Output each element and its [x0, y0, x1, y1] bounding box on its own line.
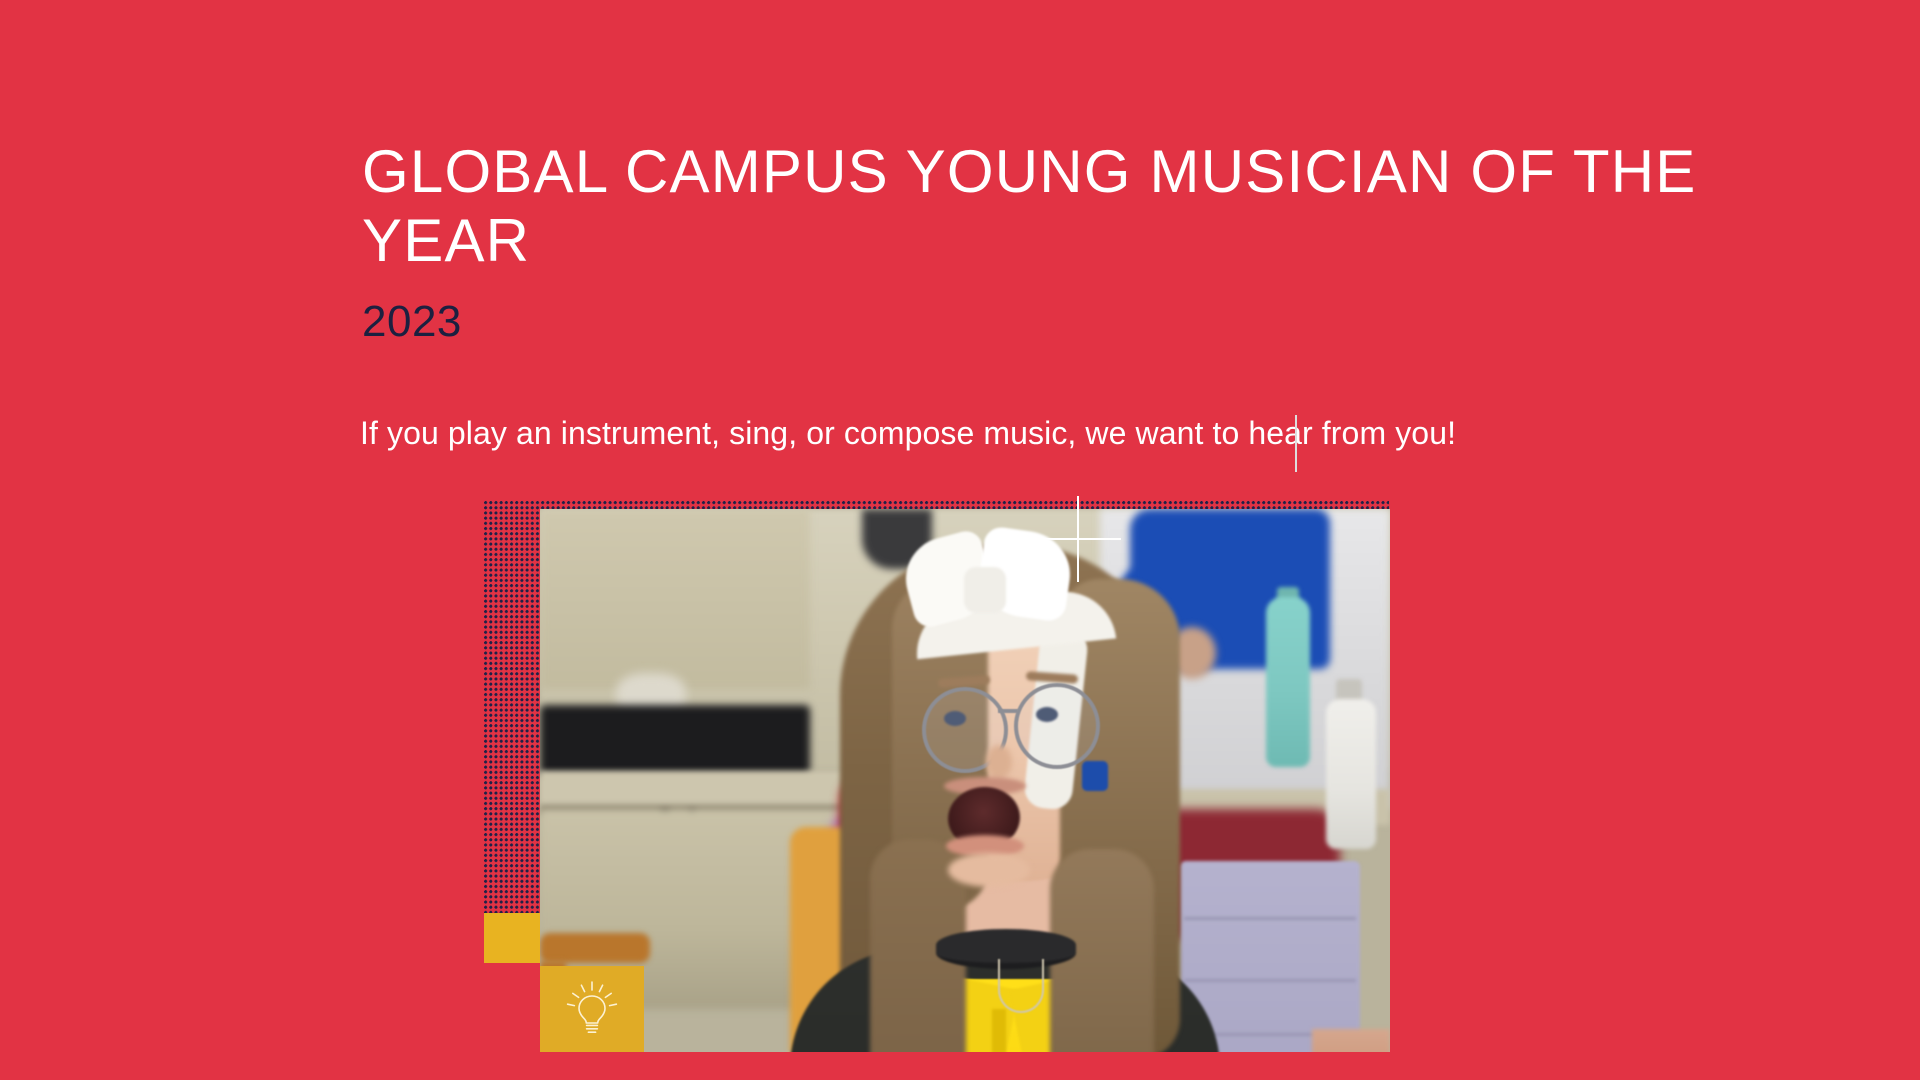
crosshair-cursor-vertical	[1077, 496, 1079, 582]
student-photo	[540, 509, 1390, 1052]
lightbulb-icon	[561, 978, 623, 1040]
text-cursor	[1295, 415, 1297, 472]
page-title: Global Campus Young Musician of the Year	[362, 137, 1762, 275]
slide-canvas: Global Campus Young Musician of the Year…	[0, 0, 1920, 1080]
year-label: 2023	[362, 296, 462, 348]
subtitle-text: If you play an instrument, sing, or comp…	[360, 413, 1456, 453]
lightbulb-icon-badge	[540, 966, 644, 1052]
yellow-accent-square	[484, 913, 540, 963]
